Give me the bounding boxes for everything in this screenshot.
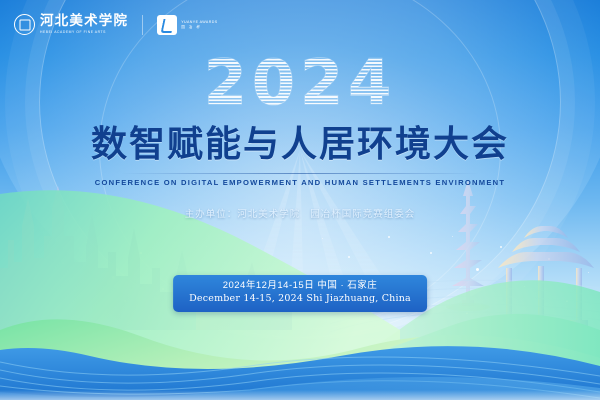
year-heading: 2024 xyxy=(0,52,600,114)
chinese-pagoda-silhouette xyxy=(446,180,490,311)
yuanye-logo-cn: 园 冶 杯 xyxy=(181,25,217,29)
yuanye-award-logo[interactable]: YUANYE AWARDS 园 冶 杯 xyxy=(157,15,217,35)
hebei-logo-text: 河北美术学院 HEBEI ACADEMY OF FINE ARTS xyxy=(40,15,128,34)
yuanye-logo-text: YUANYE AWARDS 园 冶 杯 xyxy=(181,20,217,29)
logo-divider xyxy=(142,15,143,35)
conference-poster: 河北美术学院 HEBEI ACADEMY OF FINE ARTS YUANYE… xyxy=(0,0,600,400)
organizer-name-1: 河北美术学院 xyxy=(237,209,300,220)
date-text-cn: 2024年12月14-15日 中国 · 石家庄 xyxy=(189,280,411,293)
year-text: 2024 xyxy=(204,52,397,114)
hebei-logo-cn: 河北美术学院 xyxy=(40,15,128,29)
title-block: 数智赋能与人居环境大会 CONFERENCE ON DIGITAL EMPOWE… xyxy=(0,124,600,187)
header-logos: 河北美术学院 HEBEI ACADEMY OF FINE ARTS YUANYE… xyxy=(14,14,218,35)
hill-front-right xyxy=(300,314,600,400)
circular-seal-icon xyxy=(14,14,35,35)
bottom-fade xyxy=(0,390,600,400)
page-title: 数智赋能与人居环境大会 xyxy=(0,124,600,165)
hill-front-main xyxy=(0,319,600,400)
organizer-name-2: 园冶杯国际竞赛组委会 xyxy=(310,209,415,220)
date-badge: 2024年12月14-15日 中国 · 石家庄 December 14-15, … xyxy=(173,275,427,312)
page-subtitle: CONFERENCE ON DIGITAL EMPOWERMENT AND HU… xyxy=(0,178,600,187)
organizer-line: 主办单位：河北美术学院园冶杯国际竞赛组委会 xyxy=(0,206,600,220)
square-emblem-icon xyxy=(157,15,177,35)
organizer-label: 主办单位： xyxy=(185,209,238,220)
date-text-en: December 14-15, 2024 Shi Jiazhuang, Chin… xyxy=(189,293,411,306)
hebei-logo-en: HEBEI ACADEMY OF FINE ARTS xyxy=(40,31,128,34)
title-divider xyxy=(121,173,479,174)
chinese-pavilion-gate-silhouette xyxy=(498,226,594,328)
hebei-academy-of-fine-arts-logo[interactable]: 河北美术学院 HEBEI ACADEMY OF FINE ARTS xyxy=(14,14,128,35)
